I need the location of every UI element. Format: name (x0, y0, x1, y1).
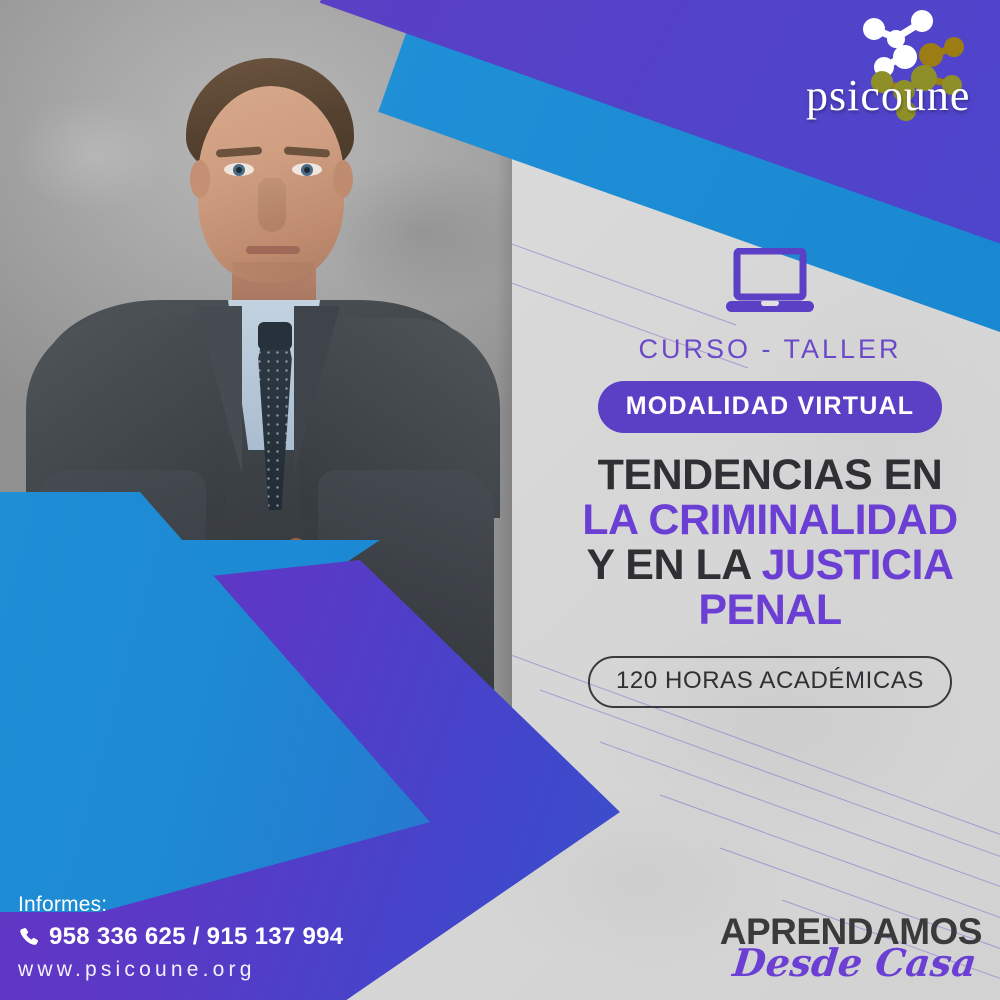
nose (258, 178, 286, 232)
promo-poster: psicoune CURSO - TALLER MODALIDAD VIRTUA… (0, 0, 1000, 1000)
title-line-3: Y EN LA JUSTICIA (540, 543, 1000, 588)
contact-block: Informes: 958 336 625 / 915 137 994 www.… (18, 893, 343, 982)
eye-right (292, 163, 322, 176)
ear-right (333, 160, 353, 198)
logo-wordmark: psicoune (806, 70, 970, 121)
title-line-1: TENDENCIAS EN (540, 453, 1000, 498)
course-kicker: CURSO - TALLER (540, 334, 1000, 365)
title-line-2: LA CRIMINALIDAD (540, 498, 1000, 543)
academic-hours-badge: 120 HORAS ACADÉMICAS (588, 656, 952, 708)
course-info-panel: CURSO - TALLER MODALIDAD VIRTUAL TENDENC… (540, 248, 1000, 708)
title-line-3-highlight: JUSTICIA (762, 541, 954, 589)
brand-logo[interactable]: psicoune (800, 8, 986, 124)
laptop-icon (724, 248, 816, 316)
course-title: TENDENCIAS EN LA CRIMINALIDAD Y EN LA JU… (540, 453, 1000, 634)
ear-left (190, 160, 210, 198)
suit-lapel-right (294, 306, 340, 474)
mouth (246, 246, 300, 254)
tagline-block: APRENDAMOS Desde Casa (720, 913, 982, 982)
contact-label: Informes: (18, 893, 343, 917)
title-line-4: PENAL (540, 588, 1000, 633)
necktie-knot (258, 322, 292, 350)
phone-row[interactable]: 958 336 625 / 915 137 994 (18, 923, 343, 951)
title-line-3-plain: Y EN LA (586, 541, 761, 589)
website-url[interactable]: www.psicoune.org (18, 958, 343, 982)
phone-icon (18, 926, 40, 948)
suit-lapel-left (196, 306, 242, 474)
phone-numbers: 958 336 625 / 915 137 994 (49, 923, 343, 951)
eye-left (224, 163, 254, 176)
tagline-line-2: Desde Casa (731, 944, 978, 982)
modality-badge: MODALIDAD VIRTUAL (598, 381, 942, 433)
